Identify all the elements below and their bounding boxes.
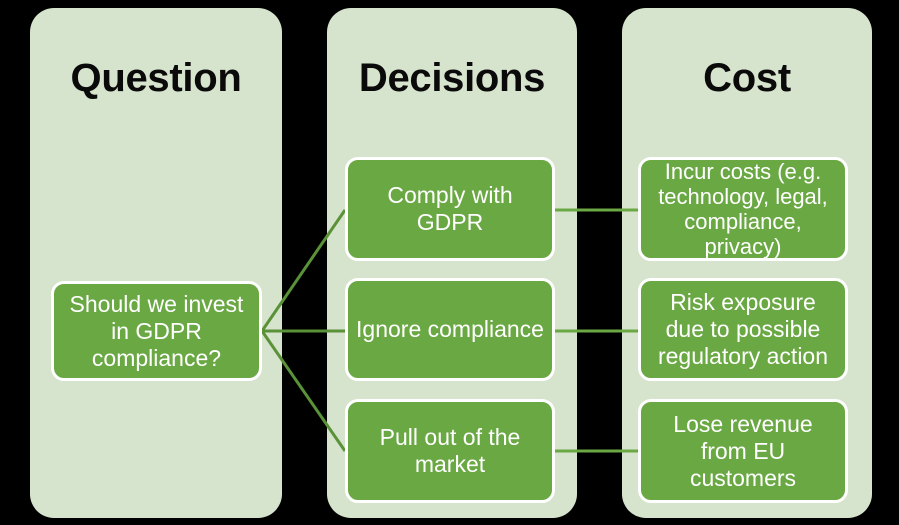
node-cost-risk-exposure[interactable]: Risk exposure due to possible regulatory… — [638, 278, 848, 381]
decision-tree-diagram: Question Decisions Cost Should we invest… — [0, 0, 899, 525]
node-label: Ignore compliance — [356, 316, 544, 343]
node-cost-lose-revenue[interactable]: Lose revenue from EU customers — [638, 399, 848, 503]
node-label: Risk exposure due to possible regulatory… — [649, 289, 837, 370]
column-title-decisions: Decisions — [327, 55, 577, 101]
node-cost-incur-costs[interactable]: Incur costs (e.g. technology, legal, com… — [638, 157, 848, 261]
column-title-cost: Cost — [622, 55, 872, 101]
node-decision-pull-out-of-market[interactable]: Pull out of the market — [345, 399, 555, 503]
node-label: Incur costs (e.g. technology, legal, com… — [649, 159, 837, 259]
node-question-invest-gdpr[interactable]: Should we invest in GDPR compliance? — [51, 281, 262, 381]
node-decision-ignore-compliance[interactable]: Ignore compliance — [345, 278, 555, 381]
node-label: Comply with GDPR — [356, 182, 544, 236]
column-title-question: Question — [30, 55, 282, 101]
column-panel-question: Question — [30, 8, 282, 518]
node-label: Should we invest in GDPR compliance? — [62, 291, 251, 372]
node-decision-comply-with-gdpr[interactable]: Comply with GDPR — [345, 157, 555, 261]
node-label: Pull out of the market — [356, 424, 544, 478]
node-label: Lose revenue from EU customers — [649, 411, 837, 492]
